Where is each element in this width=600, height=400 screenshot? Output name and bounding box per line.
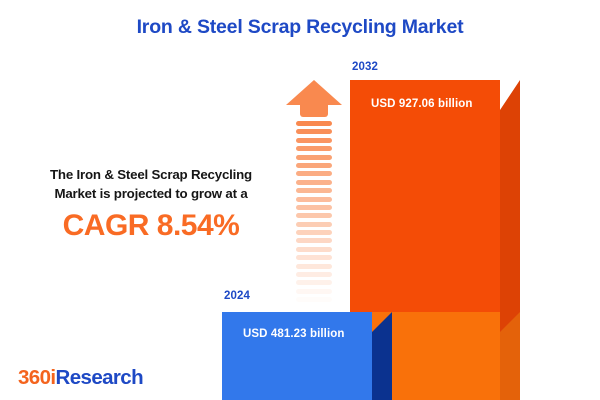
bar-2032-overlap-side	[500, 332, 520, 400]
arrow-segment	[296, 222, 332, 227]
bar-2024-side-face	[372, 332, 392, 400]
arrow-segment	[296, 155, 332, 160]
bar-2032-overlap-chamfer	[500, 312, 520, 332]
arrow-segment	[296, 163, 332, 168]
year-label-2024: 2024	[224, 290, 250, 302]
arrow-segment	[296, 230, 332, 235]
arrow-segment	[296, 238, 332, 243]
value-label-2024: USD 481.23 billion	[243, 328, 345, 340]
infographic-canvas: Iron & Steel Scrap Recycling Market The …	[0, 0, 600, 400]
brand-logo[interactable]: 360iResearch	[18, 366, 143, 390]
caption-line-1: The Iron & Steel Scrap Recycling	[20, 165, 282, 184]
bar-2024-chamfer	[372, 312, 392, 332]
arrow-segment	[296, 197, 332, 202]
caption-line-2: Market is projected to grow at a	[20, 184, 282, 203]
bar-2024-front-face	[222, 312, 372, 400]
arrow-segment	[296, 297, 332, 302]
up-arrow-icon	[286, 80, 342, 295]
arrow-segment	[296, 255, 332, 260]
arrow-segment	[296, 280, 332, 285]
bar-2032-chamfer	[500, 80, 520, 110]
cagr-value: CAGR 8.54%	[20, 209, 282, 243]
arrow-segment	[296, 213, 332, 218]
arrow-neck-icon	[300, 105, 328, 117]
arrow-segment	[296, 289, 332, 294]
arrow-segment	[296, 247, 332, 252]
arrow-segment	[296, 138, 332, 143]
arrow-segment	[296, 205, 332, 210]
logo-part-360: 360	[18, 366, 50, 389]
arrow-segment	[296, 146, 332, 151]
arrow-segment	[296, 188, 332, 193]
caption-block: The Iron & Steel Scrap Recycling Market …	[20, 165, 282, 243]
arrow-fading-bars	[296, 121, 332, 322]
arrow-segment	[296, 180, 332, 185]
arrow-segment	[296, 121, 332, 126]
arrow-head-icon	[286, 80, 342, 105]
page-title: Iron & Steel Scrap Recycling Market	[0, 16, 600, 39]
arrow-segment	[296, 171, 332, 176]
value-label-2032: USD 927.06 billion	[371, 98, 473, 110]
arrow-segment	[296, 129, 332, 134]
arrow-segment	[296, 272, 332, 277]
arrow-segment	[296, 264, 332, 269]
year-label-2032: 2032	[352, 61, 378, 73]
logo-part-research: Research	[56, 366, 144, 389]
